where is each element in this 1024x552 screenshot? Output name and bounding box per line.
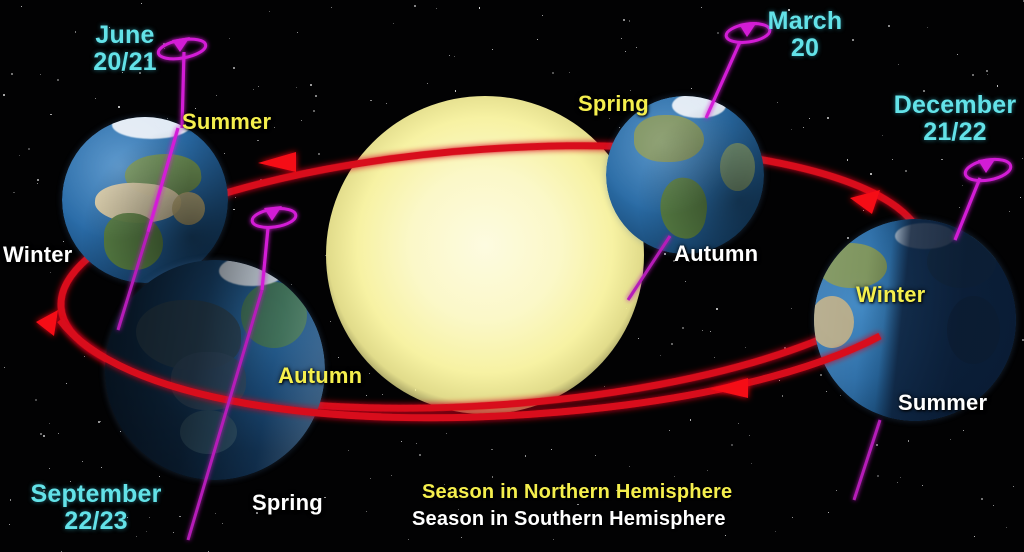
legend-northern: Season in Northern Hemisphere	[422, 482, 732, 504]
earth-shading	[606, 96, 764, 254]
date-label-june: June 20/21	[60, 22, 190, 76]
season-south-march: Autumn	[674, 242, 758, 266]
season-north-december: Winter	[856, 283, 925, 307]
seasons-diagram: June 20/21 Summer Winter September 22/23…	[0, 0, 1024, 552]
season-south-june: Winter	[3, 243, 72, 267]
season-north-june: Summer	[182, 110, 271, 134]
date-label-september: September 22/23	[22, 481, 170, 535]
season-north-march: Spring	[578, 92, 649, 116]
date-label-december: December 21/22	[890, 92, 1020, 146]
legend-southern: Season in Southern Hemisphere	[412, 509, 726, 531]
date-label-march: March 20	[757, 8, 853, 62]
season-north-september: Autumn	[278, 364, 362, 388]
season-south-december: Summer	[898, 391, 987, 415]
earth-june-solstice	[62, 117, 228, 283]
earth-shading	[62, 117, 228, 283]
season-south-september: Spring	[252, 491, 323, 515]
earth-march-equinox	[606, 96, 764, 254]
